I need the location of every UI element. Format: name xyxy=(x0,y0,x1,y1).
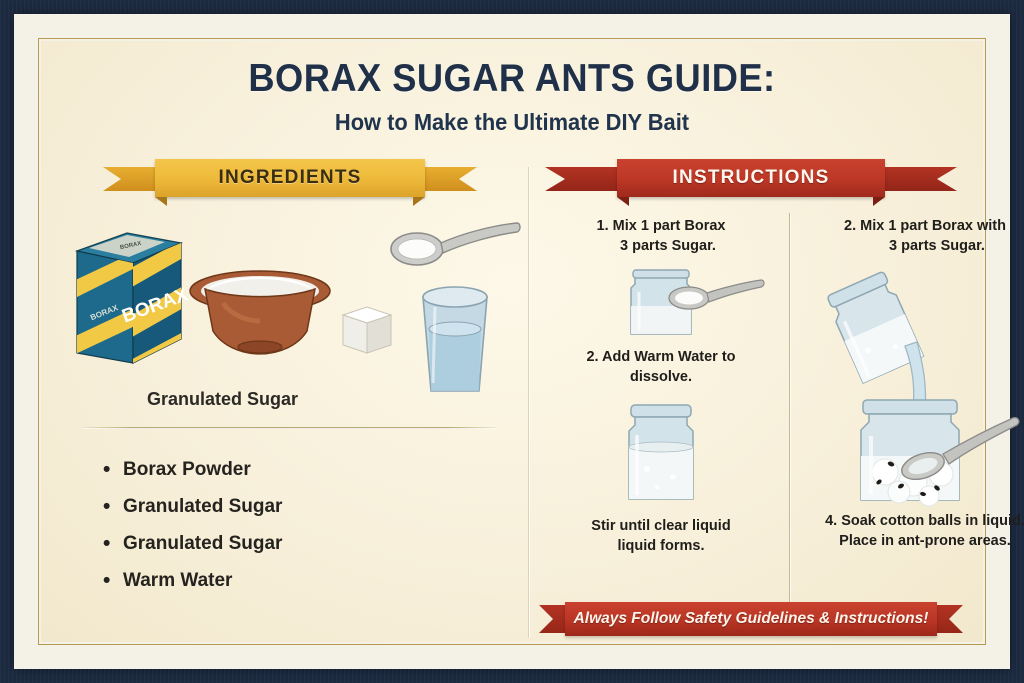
step-3-line-1: Stir until clear liquid xyxy=(543,517,779,537)
instructions-column-one: 1. Mix 1 part Borax 3 parts Sugar. xyxy=(543,209,779,629)
instructions-body: 1. Mix 1 part Borax 3 parts Sugar. xyxy=(533,209,969,629)
ribbon-tail-right xyxy=(885,167,957,191)
instructions-panel: INSTRUCTIONS 1. Mix 1 part Borax 3 parts… xyxy=(533,159,969,642)
step-1-line-1: 1. Mix 1 part Borax xyxy=(543,217,779,237)
spoon-icon xyxy=(391,223,520,265)
step-2b-text: 2. Mix 1 part Borax with 3 parts Sugar. xyxy=(801,217,1024,256)
page-subtitle: How to Make the Ultimate DIY Bait xyxy=(65,109,960,136)
list-item: Granulated Sugar xyxy=(103,496,525,518)
ingredients-banner: INGREDIENTS xyxy=(155,159,425,197)
column-divider xyxy=(528,167,530,638)
step-3-line-2: liquid forms. xyxy=(543,537,779,557)
ingredients-art-svg: BORAX BORAX BORAX xyxy=(55,211,525,411)
list-item: Granulated Sugar xyxy=(103,533,525,555)
page-title: BORAX SUGAR ANTS GUIDE: xyxy=(74,57,950,101)
ingredients-banner-label: INGREDIENTS xyxy=(155,159,425,197)
ingredients-panel: INGREDIENTS xyxy=(55,159,525,642)
step-2-text: 2. Add Warm Water to dissolve. xyxy=(543,348,779,387)
poster-columns: INGREDIENTS xyxy=(41,159,983,642)
ingredients-art-caption: Granulated Sugar xyxy=(147,389,298,410)
step-1-line-2: 3 parts Sugar. xyxy=(543,237,779,257)
water-glass-icon xyxy=(423,287,487,391)
step-4-line-1: 4. Soak cotton balls in liquid. xyxy=(801,512,1024,532)
list-item: Borax Powder xyxy=(103,459,525,481)
step-4-line-2: Place in ant-prone areas. xyxy=(801,532,1024,552)
list-item: Warm Water xyxy=(103,570,525,592)
pouring-jars-illustration xyxy=(801,260,1024,510)
poster-header: BORAX SUGAR ANTS GUIDE: How to Make the … xyxy=(41,41,983,136)
ribbon-tail-left xyxy=(103,167,155,191)
instructions-banner: INSTRUCTIONS xyxy=(617,159,885,197)
safety-banner-label: Always Follow Safety Guidelines & Instru… xyxy=(565,602,937,636)
step-2b-line-1: 2. Mix 1 part Borax with xyxy=(801,217,1024,237)
instructions-column-divider xyxy=(789,213,790,607)
borax-box-icon: BORAX BORAX BORAX xyxy=(69,233,191,387)
sugar-bowl-icon xyxy=(190,271,330,354)
poster-outer-frame: BORAX SUGAR ANTS GUIDE: How to Make the … xyxy=(0,0,1024,683)
ribbon-tail-right xyxy=(425,167,477,191)
poster-page: BORAX SUGAR ANTS GUIDE: How to Make the … xyxy=(41,41,983,642)
jar-of-liquid-illustration xyxy=(543,399,779,507)
ingredients-illustration: BORAX BORAX BORAX xyxy=(55,211,525,421)
instructions-banner-label: INSTRUCTIONS xyxy=(617,159,885,197)
jar-icon xyxy=(629,405,693,499)
jar-with-spoon-illustration xyxy=(543,262,779,340)
safety-banner: Always Follow Safety Guidelines & Instru… xyxy=(539,602,963,636)
ingredients-list: Borax Powder Granulated Sugar Granulated… xyxy=(103,459,525,592)
pouring-jar-icon xyxy=(825,270,924,383)
step-2-line-1: 2. Add Warm Water to xyxy=(543,348,779,368)
ribbon-tail-left xyxy=(545,167,617,191)
step-2-line-2: dissolve. xyxy=(543,368,779,388)
ribbon-tail-right xyxy=(933,605,963,633)
step-1-text: 1. Mix 1 part Borax 3 parts Sugar. xyxy=(543,217,779,256)
step-2b-line-2: 3 parts Sugar. xyxy=(801,237,1024,257)
ingredients-divider xyxy=(83,427,497,429)
poster-mat: BORAX SUGAR ANTS GUIDE: How to Make the … xyxy=(14,14,1010,669)
instructions-column-two: 2. Mix 1 part Borax with 3 parts Sugar. xyxy=(801,209,1024,629)
step-3-text: Stir until clear liquid liquid forms. xyxy=(543,517,779,556)
sugar-cube-icon xyxy=(343,307,391,353)
step-4-text: 4. Soak cotton balls in liquid. Place in… xyxy=(801,512,1024,551)
